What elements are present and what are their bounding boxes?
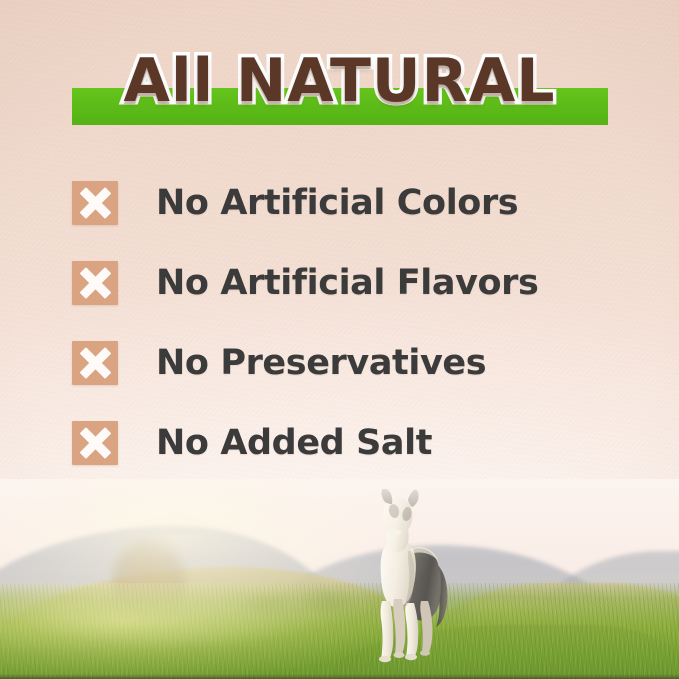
x-mark-icon [72,341,118,385]
feature-list: No Artificial Colors No Artificial Flavo… [72,181,632,501]
dog-photo [0,479,679,679]
feature-label: No Artificial Colors [156,181,518,225]
page-title: All NATURAL [0,44,679,118]
photo-grass-sunlight [0,583,679,679]
feature-label: No Artificial Flavors [156,261,538,305]
photo-bottom-edge [0,674,679,679]
list-item: No Artificial Flavors [72,261,632,305]
banner: All NATURAL [0,44,679,140]
feature-label: No Added Salt [156,421,432,465]
list-item: No Added Salt [72,421,632,465]
x-mark-icon [72,421,118,465]
list-item: No Preservatives [72,341,632,385]
all-natural-poster: All NATURAL No Artificial Colors No Arti… [0,0,679,679]
x-mark-icon [72,261,118,305]
feature-label: No Preservatives [156,341,486,385]
x-mark-icon [72,181,118,225]
dog-figure [368,489,468,669]
list-item: No Artificial Colors [72,181,632,225]
